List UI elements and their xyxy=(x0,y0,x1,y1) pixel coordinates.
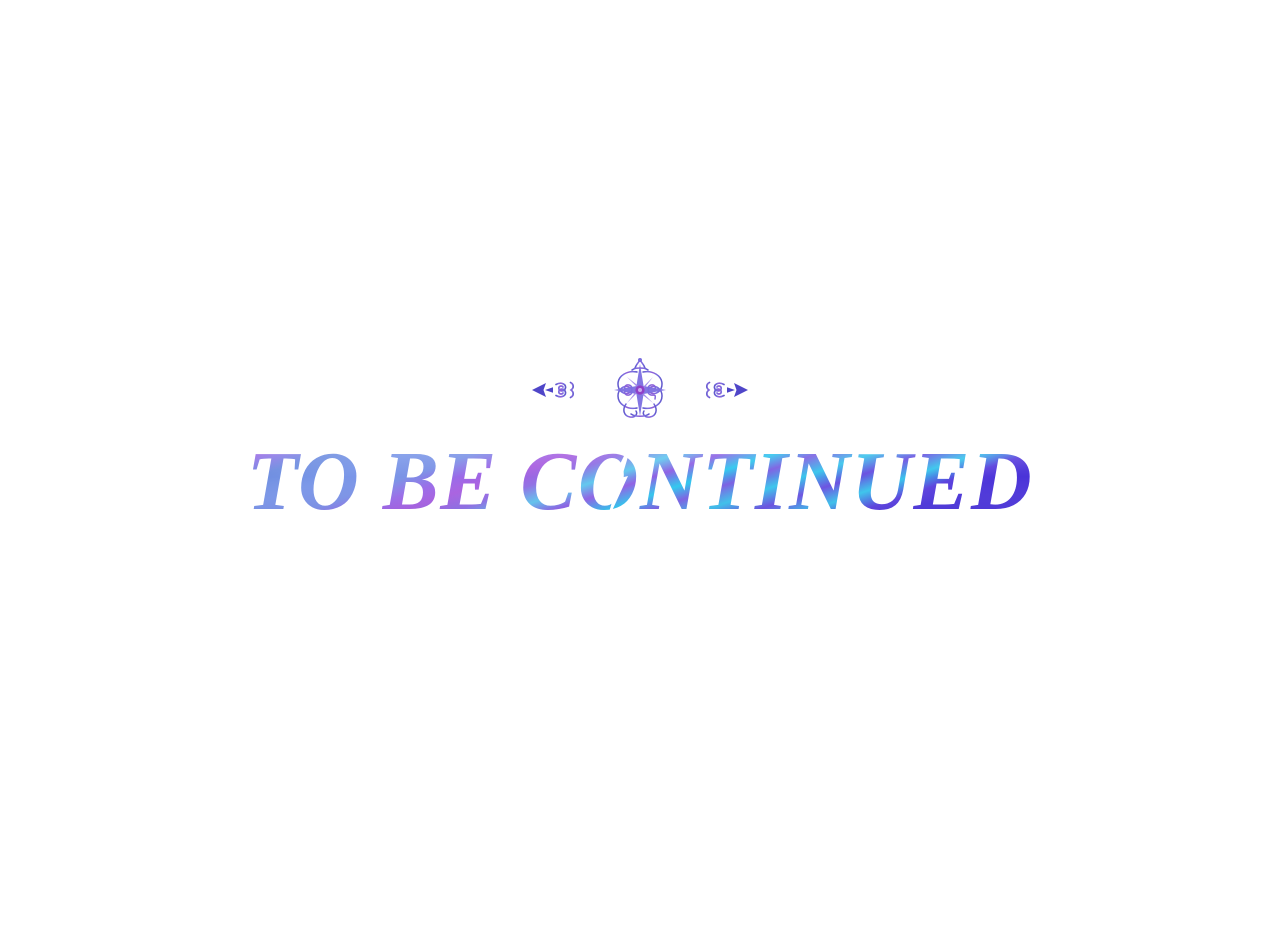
compass-rosette-medallion xyxy=(614,358,666,417)
title-text-shading: TO BE CONTINUED xyxy=(247,435,1033,528)
end-card-screen: TO BE CONTINUED TO BE CONTINUED xyxy=(0,0,1280,940)
page-title: TO BE CONTINUED TO BE CONTINUED xyxy=(0,432,1280,536)
filigree-divider xyxy=(0,352,1280,428)
filigree-divider-graphic xyxy=(530,354,750,426)
title-graphic: TO BE CONTINUED TO BE CONTINUED xyxy=(290,429,990,539)
